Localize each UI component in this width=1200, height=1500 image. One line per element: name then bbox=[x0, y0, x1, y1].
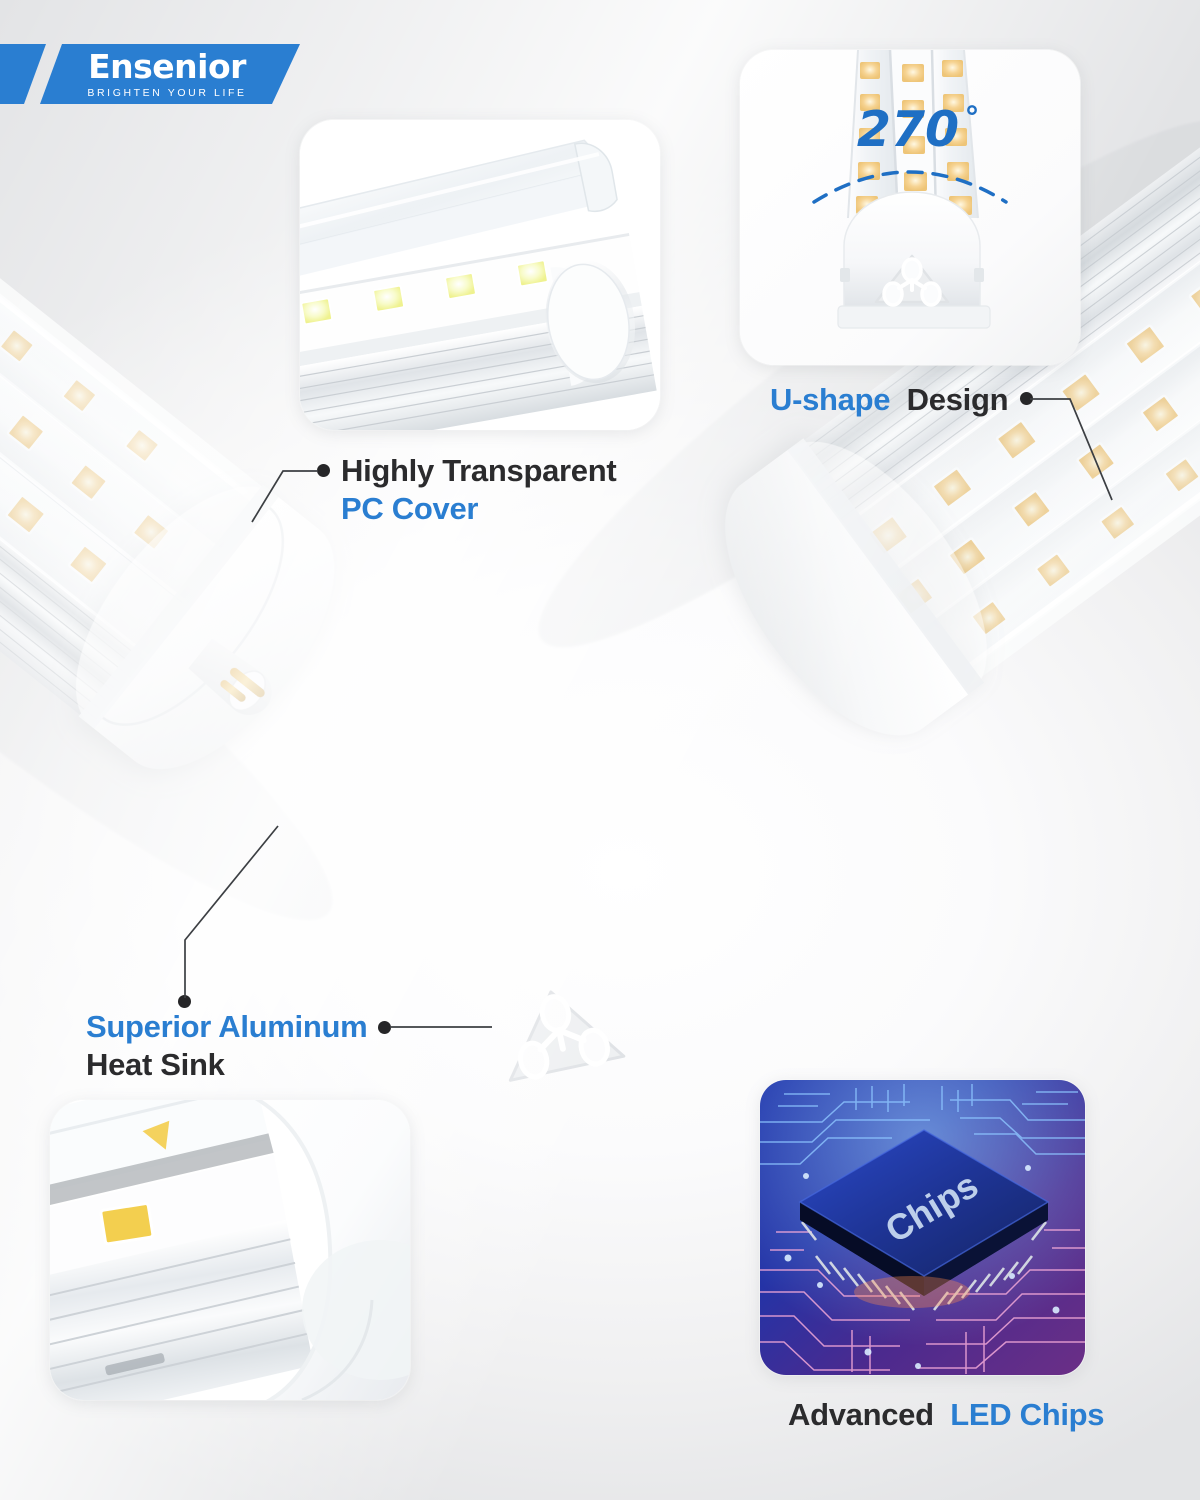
inset-heat-sink bbox=[50, 1100, 410, 1400]
callout-pc-cover-line1: Highly Transparent bbox=[341, 452, 616, 490]
brand-logo: Ensenior BRIGHTEN YOUR LIFE bbox=[0, 44, 300, 104]
u-shape-photo: 270 ° bbox=[740, 50, 1080, 365]
inset-pc-cover bbox=[300, 120, 660, 430]
angle-badge-value: 270 bbox=[857, 101, 959, 158]
infographic-canvas: Ensenior BRIGHTEN YOUR LIFE bbox=[0, 0, 1200, 1500]
heat-sink-photo bbox=[50, 1100, 410, 1400]
inset-u-shape: 270 ° bbox=[740, 50, 1080, 365]
callout-heat-sink-line2: Heat Sink bbox=[86, 1046, 367, 1084]
chips-photo: Chips bbox=[760, 1080, 1085, 1375]
callout-u-shape-line1: U-shape bbox=[770, 382, 890, 417]
callout-u-shape-line2: Design bbox=[907, 382, 1009, 417]
callout-led-chips-line1: Advanced bbox=[788, 1397, 934, 1432]
endcap-socket-icon bbox=[494, 980, 624, 1082]
leader-line-heat-sink-right bbox=[388, 1018, 498, 1042]
angle-badge-unit: ° bbox=[965, 101, 980, 136]
inset-led-chips: Chips bbox=[760, 1080, 1085, 1375]
callout-heat-sink: Superior Aluminum Heat Sink bbox=[86, 1008, 367, 1084]
callout-pc-cover: Highly Transparent PC Cover bbox=[341, 452, 616, 528]
callout-heat-sink-line1: Superior Aluminum bbox=[86, 1008, 367, 1046]
logo-banner-shape bbox=[0, 44, 300, 104]
pc-cover-photo bbox=[300, 120, 660, 430]
callout-u-shape: U-shape Design bbox=[770, 381, 1008, 419]
leader-line-heat-sink-up bbox=[180, 822, 300, 1002]
callout-led-chips: Advanced LED Chips bbox=[788, 1396, 1104, 1434]
leader-line-u-shape bbox=[1028, 392, 1138, 512]
leader-line-pc-cover bbox=[250, 460, 330, 540]
callout-led-chips-line2: LED Chips bbox=[950, 1397, 1104, 1432]
callout-pc-cover-line2: PC Cover bbox=[341, 490, 616, 528]
